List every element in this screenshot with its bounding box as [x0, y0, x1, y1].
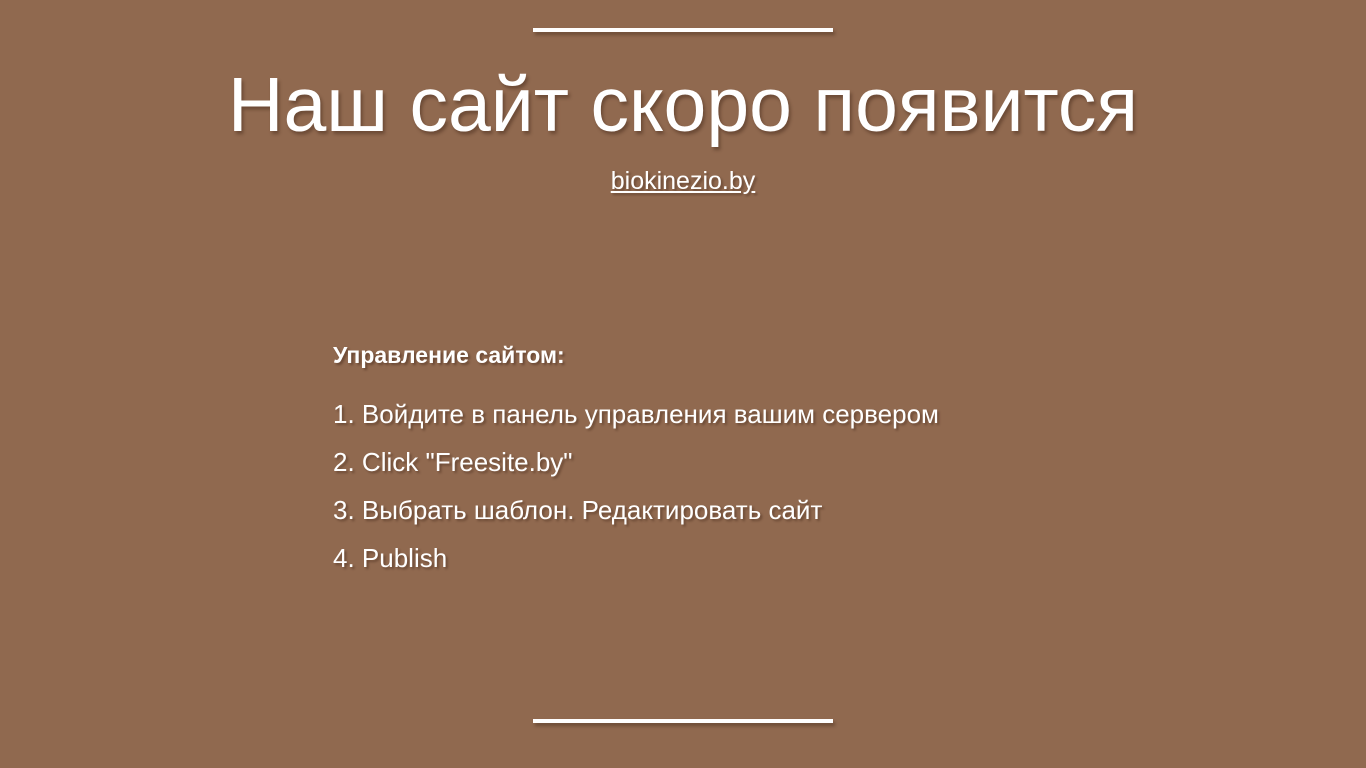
instructions-block: Управление сайтом: 1. Войдите в панель у…	[333, 341, 1233, 582]
list-item: 3. Выбрать шаблон. Редактировать сайт	[333, 486, 1233, 534]
step-number: 2.	[333, 447, 355, 477]
list-item: 2. Click "Freesite.by"	[333, 438, 1233, 486]
step-number: 4.	[333, 543, 355, 573]
list-item: 4. Publish	[333, 534, 1233, 582]
instruction-steps-list: 1. Войдите в панель управления вашим сер…	[333, 390, 1233, 582]
page-title: Наш сайт скоро появится	[0, 62, 1366, 148]
step-text: Publish	[362, 543, 447, 573]
step-text: Click "Freesite.by"	[362, 447, 573, 477]
instructions-heading: Управление сайтом:	[333, 341, 1233, 370]
bottom-divider	[533, 719, 833, 723]
top-divider	[533, 28, 833, 32]
site-domain-link[interactable]: biokinezio.by	[611, 166, 756, 196]
step-number: 3.	[333, 495, 355, 525]
page-header: Наш сайт скоро появится biokinezio.by	[0, 62, 1366, 196]
step-text: Выбрать шаблон. Редактировать сайт	[362, 495, 822, 525]
step-text: Войдите в панель управления вашим сервер…	[362, 399, 939, 429]
placeholder-page: Наш сайт скоро появится biokinezio.by Уп…	[0, 0, 1366, 768]
step-number: 1.	[333, 399, 355, 429]
list-item: 1. Войдите в панель управления вашим сер…	[333, 390, 1233, 438]
